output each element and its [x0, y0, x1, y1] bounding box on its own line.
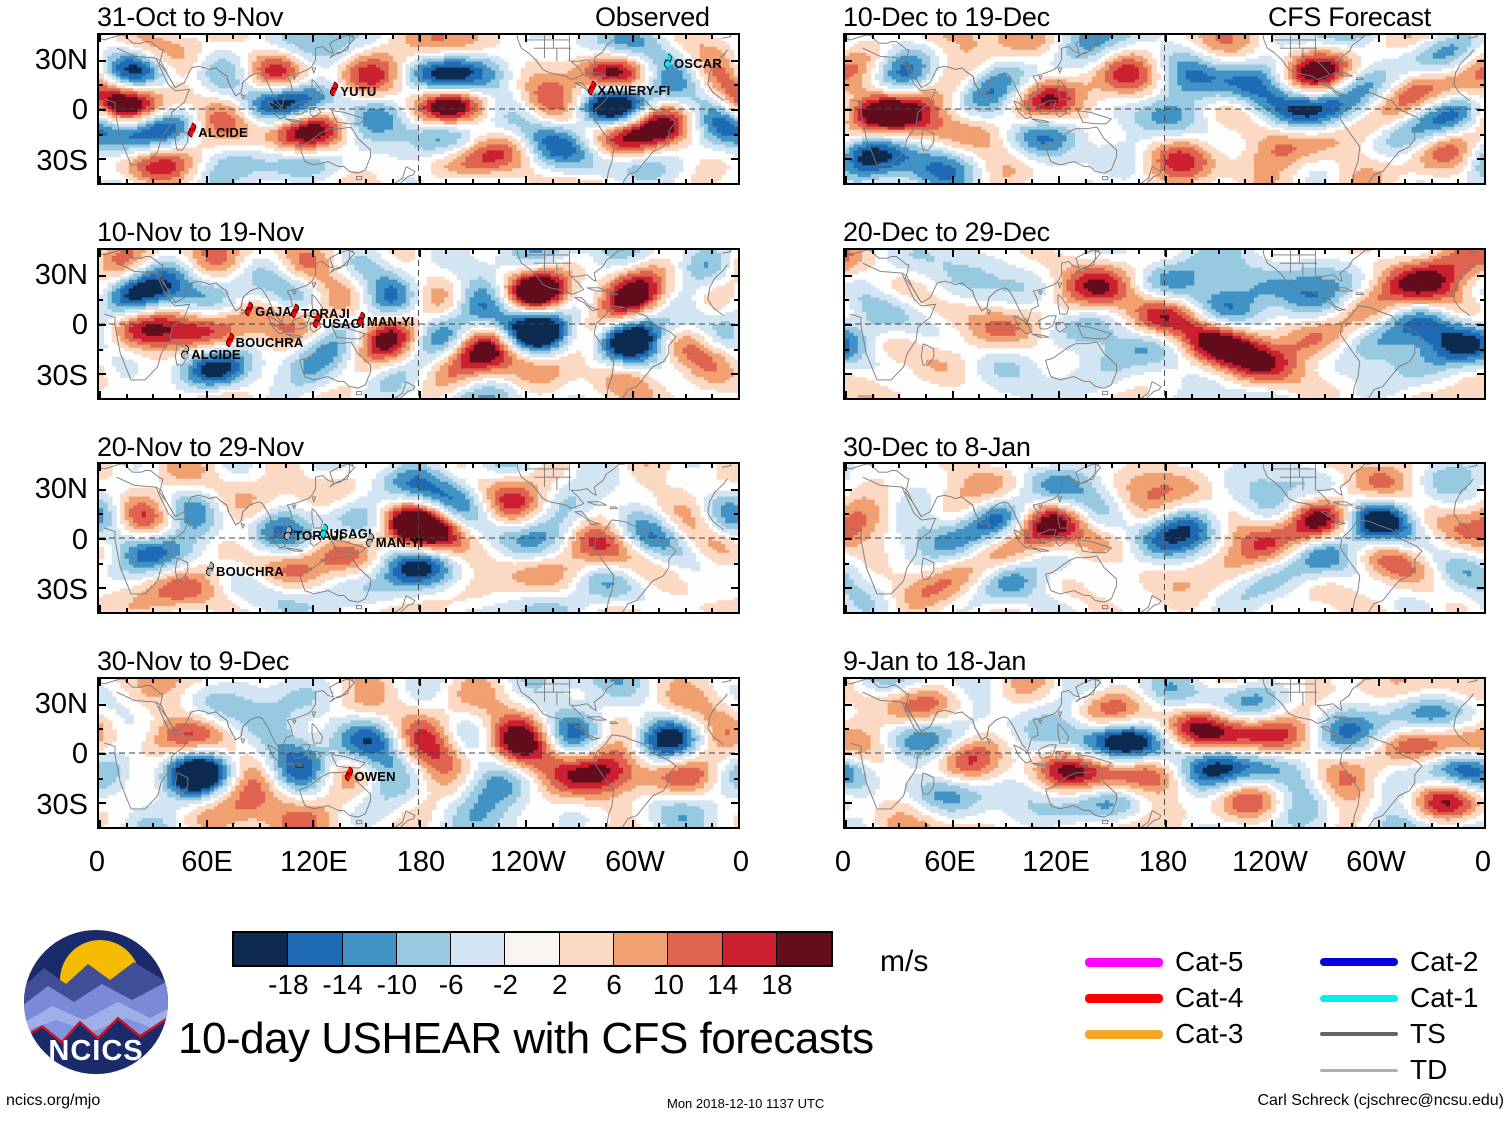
legend-swatch-cat-1 — [1320, 995, 1398, 1002]
legend-column-right: Cat-2Cat-1TSTD — [1320, 944, 1478, 1088]
axis-tick — [392, 179, 394, 183]
axis-tick — [734, 563, 738, 565]
axis-tick — [99, 802, 106, 804]
axis-tick — [578, 35, 580, 39]
axis-tick — [685, 823, 687, 827]
colorbar-tick-6: 6 — [606, 969, 622, 1001]
axis-tick — [845, 489, 852, 491]
axis-tick — [1298, 608, 1300, 612]
axis-tick — [731, 324, 738, 326]
axis-tick — [1218, 464, 1220, 468]
axis-tick — [498, 679, 500, 683]
axis-tick — [578, 464, 580, 468]
axis-tick — [126, 394, 128, 398]
axis-tick — [312, 464, 314, 471]
axis-tick — [1477, 704, 1484, 706]
axis-tick — [658, 464, 660, 468]
axis-tick — [1378, 35, 1380, 42]
axis-tick — [472, 464, 474, 468]
axis-tick — [419, 605, 421, 612]
axis-tick — [738, 176, 740, 183]
axis-tick — [392, 394, 394, 398]
axis-tick — [525, 605, 527, 612]
axis-tick — [525, 391, 527, 398]
map-panel-cfs-4[interactable] — [843, 677, 1486, 829]
column-header-observed: Observed — [595, 2, 710, 33]
axis-tick — [99, 84, 103, 86]
axis-tick — [632, 464, 634, 471]
axis-tick — [472, 250, 474, 254]
axis-tick — [1244, 35, 1246, 39]
axis-tick — [734, 513, 738, 515]
y-ticklabel-0: 0 — [0, 524, 88, 557]
axis-tick — [152, 823, 154, 827]
axis-tick — [1477, 538, 1484, 540]
axis-tick — [685, 464, 687, 468]
axis-tick — [1005, 250, 1007, 254]
axis-tick — [845, 464, 847, 471]
axis-tick — [845, 176, 847, 183]
axis-tick — [1431, 823, 1433, 827]
axis-tick — [206, 605, 208, 612]
axis-tick — [99, 538, 106, 540]
axis-tick — [734, 134, 738, 136]
axis-tick — [259, 35, 261, 39]
footer-author: Carl Schreck (cjschrec@ncsu.edu) — [1257, 1092, 1504, 1110]
map-canvas — [845, 250, 1484, 398]
legend-column-left: Cat-5Cat-4Cat-3 — [1085, 944, 1243, 1052]
legend-item-cat-1: Cat-1 — [1320, 980, 1478, 1016]
axis-tick — [419, 176, 421, 183]
axis-tick — [1031, 35, 1033, 39]
axis-tick — [99, 176, 101, 183]
colorbar-tick-2: 2 — [552, 969, 568, 1001]
axis-tick — [126, 679, 128, 683]
axis-tick — [1005, 679, 1007, 683]
legend-item-cat-3: Cat-3 — [1085, 1016, 1243, 1052]
map-panel-obs-4[interactable]: OWEN — [97, 677, 740, 829]
colorbar-units-label: m/s — [880, 945, 928, 979]
axis-tick — [365, 394, 367, 398]
axis-tick — [1218, 608, 1220, 612]
axis-tick — [445, 679, 447, 683]
axis-tick — [232, 35, 234, 39]
axis-tick — [1271, 820, 1273, 827]
map-canvas — [845, 35, 1484, 183]
map-panel-obs-2[interactable]: ALCIDEGAJATORAJIBOUCHRAUSAGIMAN-YI — [97, 248, 740, 400]
axis-tick — [1244, 179, 1246, 183]
axis-tick — [259, 394, 261, 398]
axis-tick — [552, 679, 554, 683]
axis-tick — [845, 605, 847, 612]
axis-tick — [711, 394, 713, 398]
axis-tick — [978, 823, 980, 827]
x-ticklabel-180: 180 — [1123, 846, 1203, 879]
axis-tick — [1404, 35, 1406, 39]
axis-tick — [285, 608, 287, 612]
axis-tick — [1271, 679, 1273, 686]
axis-tick — [578, 608, 580, 612]
axis-tick — [1058, 250, 1060, 257]
axis-tick — [925, 394, 927, 398]
axis-tick — [152, 179, 154, 183]
axis-tick — [126, 823, 128, 827]
axis-tick — [845, 587, 852, 589]
axis-tick — [419, 464, 421, 471]
axis-tick — [1271, 176, 1273, 183]
axis-tick — [99, 753, 106, 755]
axis-tick — [1324, 464, 1326, 468]
y-ticklabel-0: 0 — [0, 738, 88, 771]
axis-tick — [1378, 820, 1380, 827]
y-ticklabel-30s: 30S — [0, 574, 88, 607]
axis-tick — [552, 179, 554, 183]
axis-tick — [1218, 250, 1220, 254]
axis-tick — [1457, 608, 1459, 612]
axis-tick — [1031, 608, 1033, 612]
axis-tick — [658, 679, 660, 683]
map-panel-cfs-1[interactable] — [843, 33, 1486, 185]
storm-label: XAVIERY-FI — [598, 83, 671, 98]
axis-tick — [552, 823, 554, 827]
axis-tick — [99, 513, 103, 515]
axis-tick — [232, 608, 234, 612]
axis-tick — [738, 820, 740, 827]
axis-tick — [845, 158, 852, 160]
axis-tick — [1031, 394, 1033, 398]
axis-tick — [952, 605, 954, 612]
axis-tick — [1351, 679, 1353, 683]
axis-tick — [845, 704, 852, 706]
axis-tick — [1218, 679, 1220, 683]
axis-tick — [632, 391, 634, 398]
axis-tick — [1165, 176, 1167, 183]
axis-tick — [1378, 679, 1380, 686]
axis-tick — [632, 605, 634, 612]
axis-tick — [1031, 464, 1033, 468]
axis-tick — [179, 250, 181, 254]
colorbar-bin-8 — [668, 933, 722, 965]
axis-tick — [1404, 608, 1406, 612]
axis-tick — [605, 250, 607, 254]
axis-tick — [605, 823, 607, 827]
axis-tick — [498, 394, 500, 398]
axis-tick — [578, 250, 580, 254]
axis-tick — [731, 373, 738, 375]
axis-tick — [845, 84, 849, 86]
axis-tick — [978, 35, 980, 39]
axis-tick — [605, 394, 607, 398]
storm-label: BOUCHRA — [216, 564, 284, 579]
axis-tick — [925, 35, 927, 39]
axis-tick — [1484, 679, 1486, 686]
axis-tick — [1431, 179, 1433, 183]
storm-label: OWEN — [355, 769, 396, 784]
colorbar-bin-6 — [560, 933, 614, 965]
axis-tick — [1431, 35, 1433, 39]
axis-tick — [1191, 608, 1193, 612]
axis-tick — [711, 464, 713, 468]
footer-timestamp: Mon 2018-12-10 1137 UTC — [667, 1096, 824, 1111]
axis-tick — [1138, 35, 1140, 39]
axis-tick — [1138, 464, 1140, 468]
axis-tick — [1404, 679, 1406, 683]
axis-tick — [392, 679, 394, 683]
x-ticklabel-120w: 120W — [1230, 846, 1310, 879]
axis-tick — [419, 679, 421, 686]
axis-tick — [685, 250, 687, 254]
legend-label-cat-1: Cat-1 — [1410, 984, 1478, 1012]
axis-tick — [99, 349, 103, 351]
axis-tick — [1191, 250, 1193, 254]
legend-item-td: TD — [1320, 1052, 1478, 1088]
axis-tick — [552, 250, 554, 254]
colorbar-bin-5 — [505, 933, 559, 965]
axis-tick — [734, 84, 738, 86]
map-canvas — [99, 679, 738, 827]
axis-tick — [1085, 464, 1087, 468]
storm-label: ALCIDE — [198, 125, 248, 140]
axis-tick — [978, 608, 980, 612]
axis-tick — [845, 802, 852, 804]
axis-tick — [845, 250, 847, 257]
axis-tick — [206, 35, 208, 42]
colorbar-bin-4 — [451, 933, 505, 965]
colorbar-tick--14: -14 — [322, 969, 362, 1001]
axis-tick — [1085, 394, 1087, 398]
axis-tick — [1005, 394, 1007, 398]
axis-tick — [845, 513, 849, 515]
axis-tick — [419, 820, 421, 827]
axis-tick — [685, 394, 687, 398]
axis-tick — [339, 608, 341, 612]
axis-tick — [126, 250, 128, 254]
axis-tick — [1378, 605, 1380, 612]
x-ticklabel-0: 0 — [57, 846, 137, 879]
colorbar-tick-10: 10 — [653, 969, 684, 1001]
axis-tick — [1005, 464, 1007, 468]
axis-tick — [738, 605, 740, 612]
y-ticklabel-30n: 30N — [0, 688, 88, 721]
axis-tick — [285, 179, 287, 183]
axis-tick — [952, 679, 954, 686]
axis-tick — [445, 464, 447, 468]
map-canvas — [99, 35, 738, 183]
axis-tick — [392, 35, 394, 39]
colorbar-tick-18: 18 — [761, 969, 792, 1001]
axis-tick — [872, 179, 874, 183]
axis-tick — [1271, 605, 1273, 612]
colorbar-bin-10 — [777, 933, 831, 965]
axis-tick — [1191, 679, 1193, 683]
legend-swatch-cat-4 — [1085, 994, 1163, 1003]
axis-tick — [845, 563, 849, 565]
axis-tick — [232, 179, 234, 183]
axis-tick — [99, 299, 103, 301]
axis-tick — [419, 250, 421, 257]
axis-tick — [1404, 464, 1406, 468]
axis-tick — [179, 679, 181, 683]
axis-tick — [632, 35, 634, 42]
axis-tick — [1271, 250, 1273, 257]
axis-tick — [525, 820, 527, 827]
axis-tick — [898, 823, 900, 827]
axis-tick — [179, 464, 181, 468]
map-panel-obs-1[interactable]: ALCIDEYUTUXAVIERY-FIOSCAR — [97, 33, 740, 185]
axis-tick — [312, 820, 314, 827]
axis-tick — [898, 679, 900, 683]
legend-swatch-cat-3 — [1085, 1030, 1163, 1039]
y-ticklabel-30n: 30N — [0, 44, 88, 77]
axis-tick — [1298, 394, 1300, 398]
axis-tick — [1351, 250, 1353, 254]
axis-tick — [738, 250, 740, 257]
legend-item-ts: TS — [1320, 1016, 1478, 1052]
colorbar-tick-14: 14 — [707, 969, 738, 1001]
axis-tick — [1404, 394, 1406, 398]
ncics-logo: NCICS — [22, 928, 170, 1076]
axis-tick — [685, 608, 687, 612]
x-ticklabel-60e: 60E — [910, 846, 990, 879]
axis-tick — [232, 464, 234, 468]
axis-tick — [1378, 464, 1380, 471]
axis-tick — [1484, 605, 1486, 612]
axis-tick — [445, 823, 447, 827]
panel-title-cfs-3: 30-Dec to 8-Jan — [843, 432, 1031, 463]
axis-tick — [99, 373, 106, 375]
colorbar-bin-0 — [234, 933, 288, 965]
axis-tick — [1218, 35, 1220, 39]
axis-tick — [1191, 394, 1193, 398]
axis-tick — [1324, 608, 1326, 612]
axis-tick — [731, 802, 738, 804]
axis-tick — [845, 778, 849, 780]
axis-tick — [711, 823, 713, 827]
axis-tick — [738, 35, 740, 42]
axis-tick — [738, 679, 740, 686]
axis-tick — [898, 464, 900, 468]
axis-tick — [1404, 250, 1406, 254]
axis-tick — [1191, 179, 1193, 183]
axis-tick — [898, 608, 900, 612]
axis-tick — [1244, 464, 1246, 468]
axis-tick — [1324, 35, 1326, 39]
axis-tick — [99, 391, 101, 398]
axis-tick — [872, 250, 874, 254]
axis-tick — [1165, 464, 1167, 471]
axis-tick — [845, 391, 847, 398]
axis-tick — [978, 679, 980, 683]
storm-label: OSCAR — [674, 56, 722, 71]
axis-tick — [1244, 823, 1246, 827]
y-ticklabel-30s: 30S — [0, 789, 88, 822]
axis-tick — [898, 35, 900, 39]
x-ticklabel-0: 0 — [803, 846, 883, 879]
axis-tick — [605, 35, 607, 39]
axis-tick — [525, 464, 527, 471]
axis-tick — [1484, 820, 1486, 827]
axis-tick — [99, 605, 101, 612]
axis-tick — [525, 679, 527, 686]
axis-tick — [1484, 391, 1486, 398]
axis-tick — [978, 394, 980, 398]
panel-title-cfs-2: 20-Dec to 29-Dec — [843, 217, 1050, 248]
axis-tick — [1477, 587, 1484, 589]
axis-tick — [872, 608, 874, 612]
axis-tick — [285, 679, 287, 683]
axis-tick — [1005, 179, 1007, 183]
axis-tick — [1298, 250, 1300, 254]
axis-tick — [898, 394, 900, 398]
axis-tick — [99, 275, 106, 277]
axis-tick — [99, 728, 103, 730]
axis-tick — [152, 464, 154, 468]
axis-tick — [498, 464, 500, 468]
axis-tick — [632, 820, 634, 827]
axis-tick — [525, 250, 527, 257]
panel-title-obs-2: 10-Nov to 19-Nov — [97, 217, 304, 248]
colorbar-ticklabels: -18-14-10-6-226101418 — [232, 969, 833, 1003]
axis-tick — [339, 179, 341, 183]
axis-tick — [1457, 394, 1459, 398]
panel-title-obs-3: 20-Nov to 29-Nov — [97, 432, 304, 463]
axis-tick — [365, 250, 367, 254]
axis-tick — [1085, 679, 1087, 683]
map-panel-cfs-2[interactable] — [843, 248, 1486, 400]
map-panel-cfs-3[interactable] — [843, 462, 1486, 614]
axis-tick — [1480, 563, 1484, 565]
axis-tick — [845, 373, 852, 375]
axis-tick — [1165, 820, 1167, 827]
footer-website[interactable]: ncics.org/mjo — [6, 1092, 100, 1110]
axis-tick — [845, 275, 852, 277]
axis-tick — [312, 176, 314, 183]
axis-tick — [658, 823, 660, 827]
axis-tick — [99, 134, 103, 136]
axis-tick — [658, 394, 660, 398]
main-title: 10-day USHEAR with CFS forecasts — [178, 1014, 874, 1064]
legend-swatch-td — [1320, 1069, 1398, 1072]
axis-tick — [578, 823, 580, 827]
axis-tick — [1298, 35, 1300, 39]
map-panel-obs-3[interactable]: BOUCHRATORAJIUSAGIMAN-YI — [97, 462, 740, 614]
axis-tick — [1477, 60, 1484, 62]
axis-tick — [1111, 179, 1113, 183]
axis-tick — [1351, 608, 1353, 612]
axis-tick — [1244, 394, 1246, 398]
axis-tick — [525, 35, 527, 42]
axis-tick — [1477, 324, 1484, 326]
axis-tick — [1031, 823, 1033, 827]
axis-tick — [1191, 823, 1193, 827]
axis-tick — [978, 179, 980, 183]
axis-tick — [734, 349, 738, 351]
axis-tick — [731, 704, 738, 706]
axis-tick — [206, 391, 208, 398]
axis-tick — [179, 823, 181, 827]
axis-tick — [978, 250, 980, 254]
axis-tick — [872, 394, 874, 398]
axis-tick — [1457, 464, 1459, 468]
axis-tick — [1431, 394, 1433, 398]
axis-tick — [99, 158, 106, 160]
axis-tick — [1138, 823, 1140, 827]
axis-tick — [1378, 176, 1380, 183]
axis-tick — [1165, 679, 1167, 686]
axis-tick — [1324, 823, 1326, 827]
axis-tick — [845, 820, 847, 827]
axis-tick — [126, 608, 128, 612]
